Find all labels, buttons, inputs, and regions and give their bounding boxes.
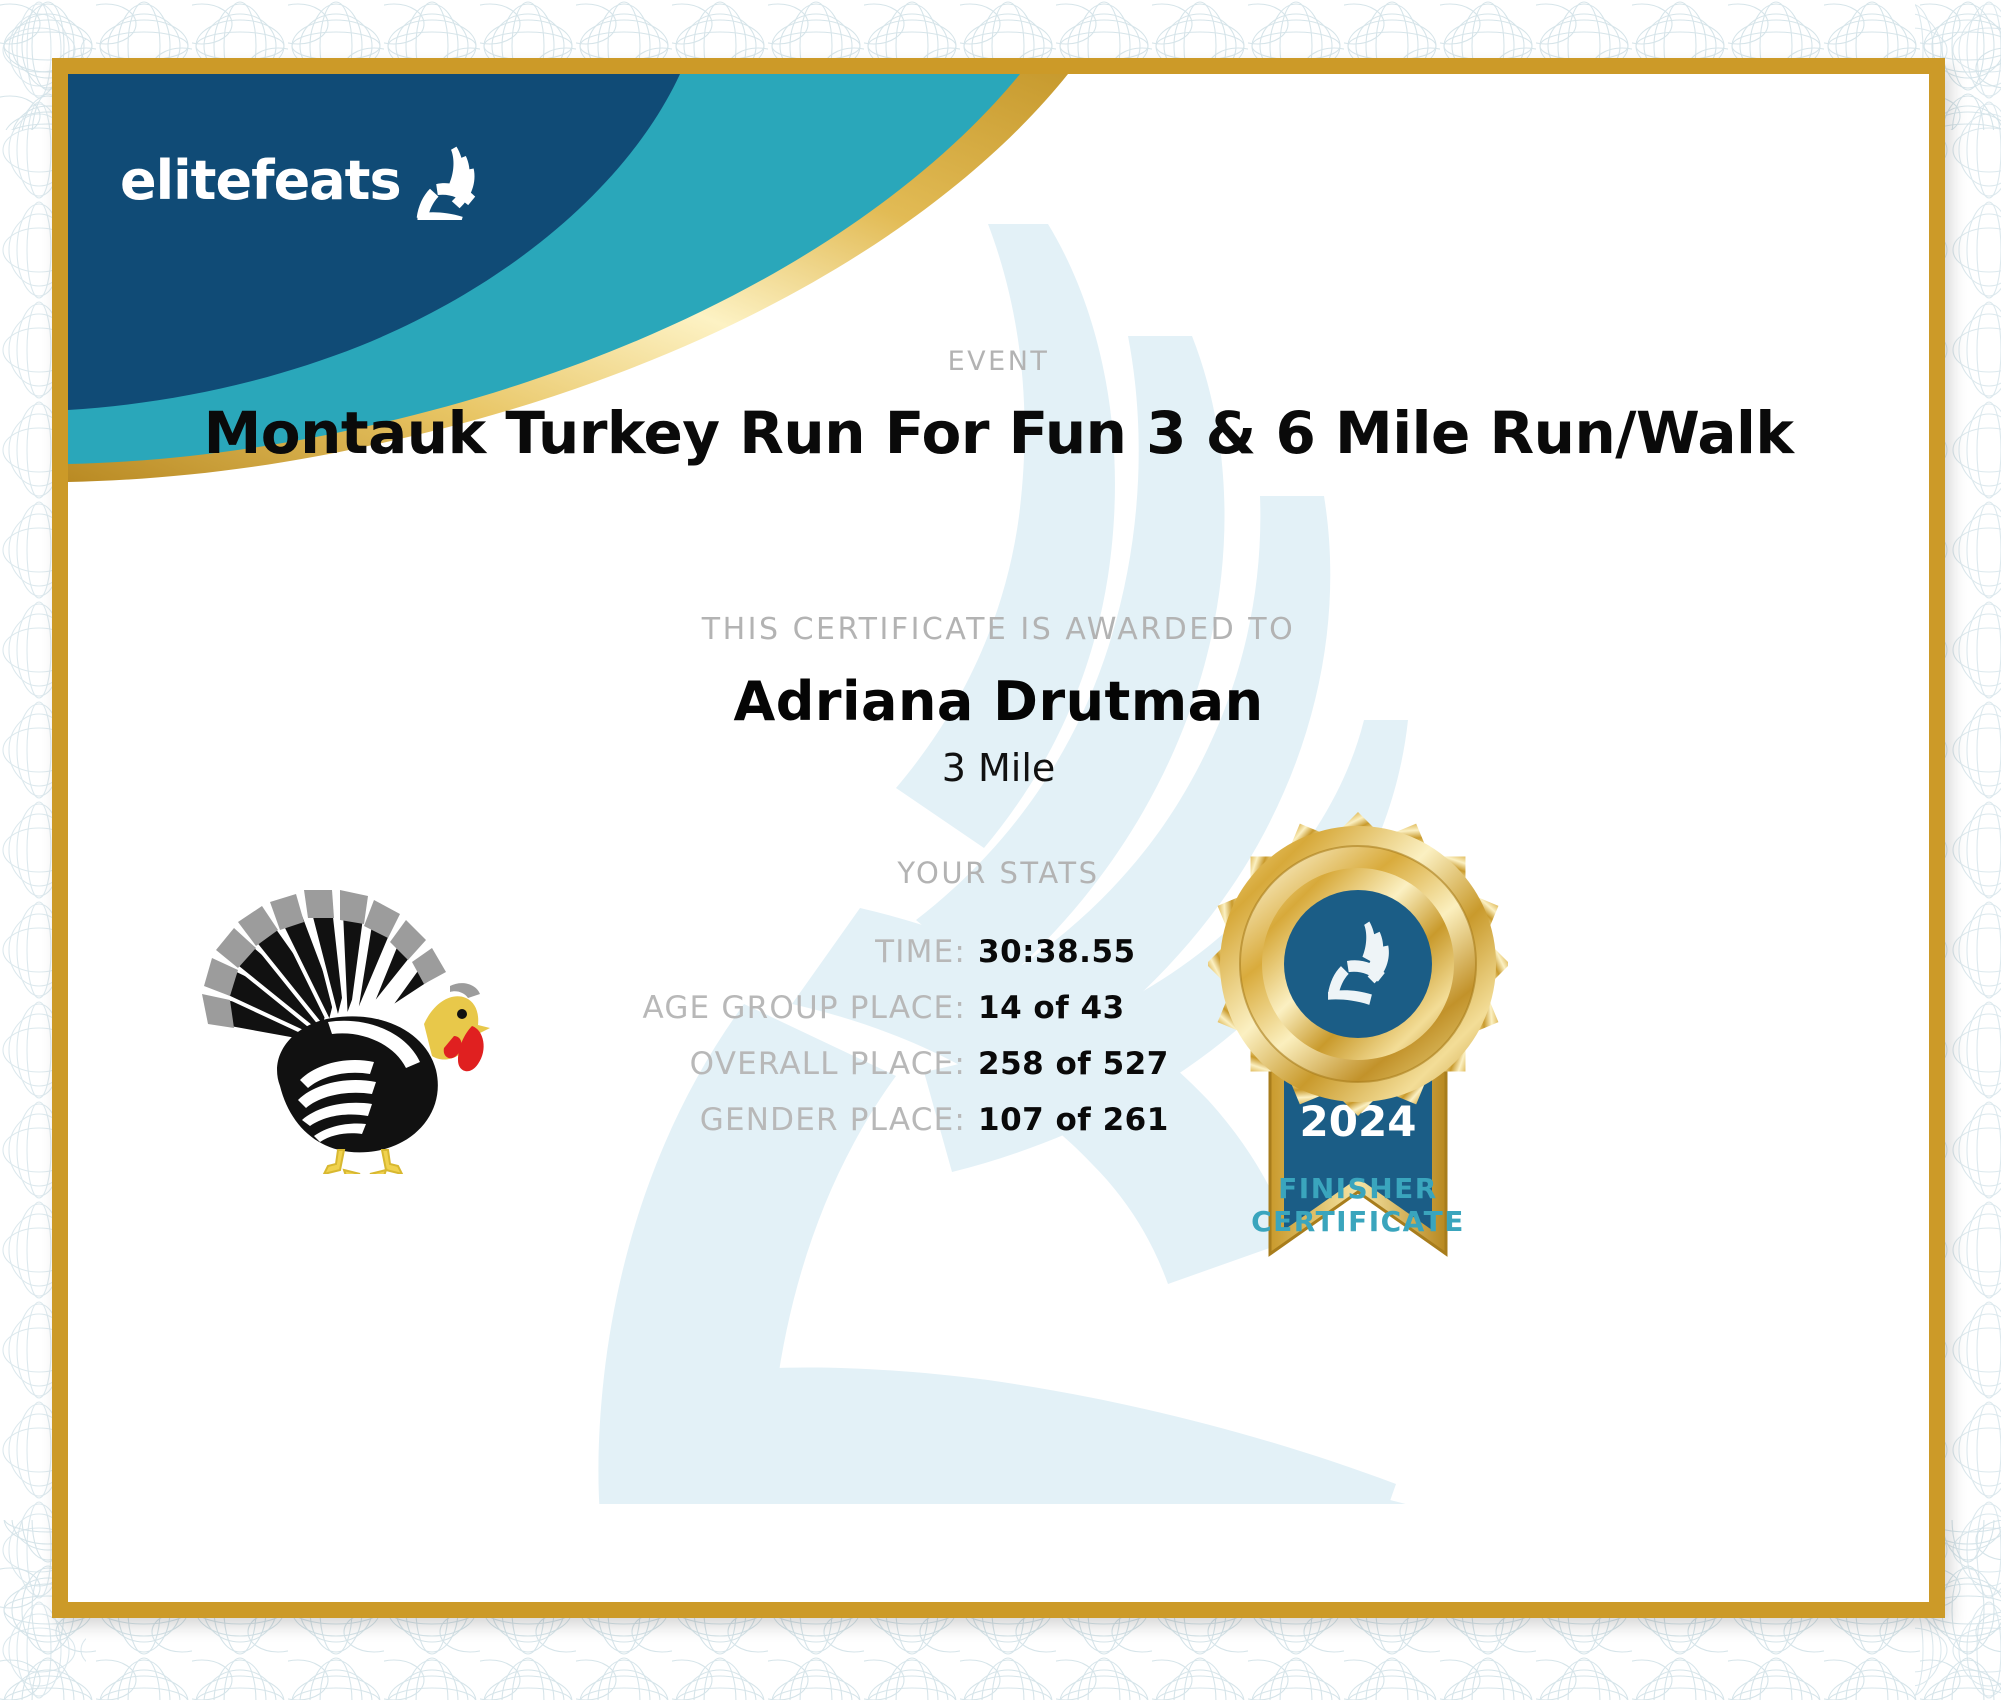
badge-caption-line2: CERTIFICATE <box>1168 1205 1548 1238</box>
badge-caption: FINISHER CERTIFICATE <box>1168 1172 1548 1238</box>
event-title: Montauk Turkey Run For Fun 3 & 6 Mile Ru… <box>68 399 1929 467</box>
stat-value: 107 of 261 <box>978 1102 1169 1138</box>
certificate-frame: elitefeats EVENT Montauk Turkey Run For … <box>52 58 1945 1618</box>
stat-value: 14 of 43 <box>978 990 1125 1026</box>
distance-label: 3 Mile <box>68 746 1929 790</box>
event-label: EVENT <box>68 346 1929 377</box>
certificate-content: EVENT Montauk Turkey Run For Fun 3 & 6 M… <box>68 74 1929 1602</box>
stat-value: 30:38.55 <box>978 934 1136 970</box>
badge-caption-line1: FINISHER <box>1168 1172 1548 1205</box>
turkey-icon <box>168 874 498 1174</box>
certificate-page: elitefeats EVENT Montauk Turkey Run For … <box>0 0 2001 1700</box>
recipient-name: Adriana Drutman <box>68 670 1929 733</box>
awarded-to-label: THIS CERTIFICATE IS AWARDED TO <box>68 612 1929 647</box>
stat-value: 258 of 527 <box>978 1046 1169 1082</box>
